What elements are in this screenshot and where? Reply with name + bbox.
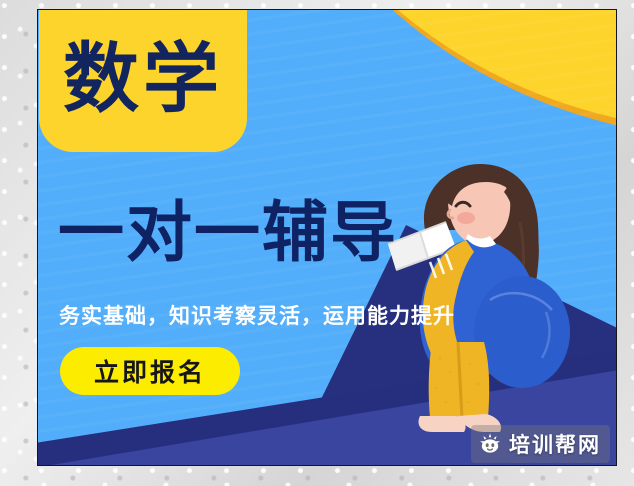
watermark: 培训帮网 <box>471 425 610 463</box>
enroll-now-button[interactable]: 立即报名 <box>60 347 240 395</box>
page-backdrop: 数学 <box>0 0 634 486</box>
subject-badge: 数学 <box>39 9 247 152</box>
page-title: 一对一辅导 <box>58 200 398 266</box>
subtitle-text: 务实基础，知识考察灵活，运用能力提升 <box>59 300 455 330</box>
watermark-label: 培训帮网 <box>509 429 601 459</box>
sun-face-icon <box>478 432 502 456</box>
subject-badge-label: 数学 <box>63 41 223 117</box>
course-promo-banner: 数学 <box>37 9 617 466</box>
enroll-now-button-label: 立即报名 <box>94 353 206 389</box>
